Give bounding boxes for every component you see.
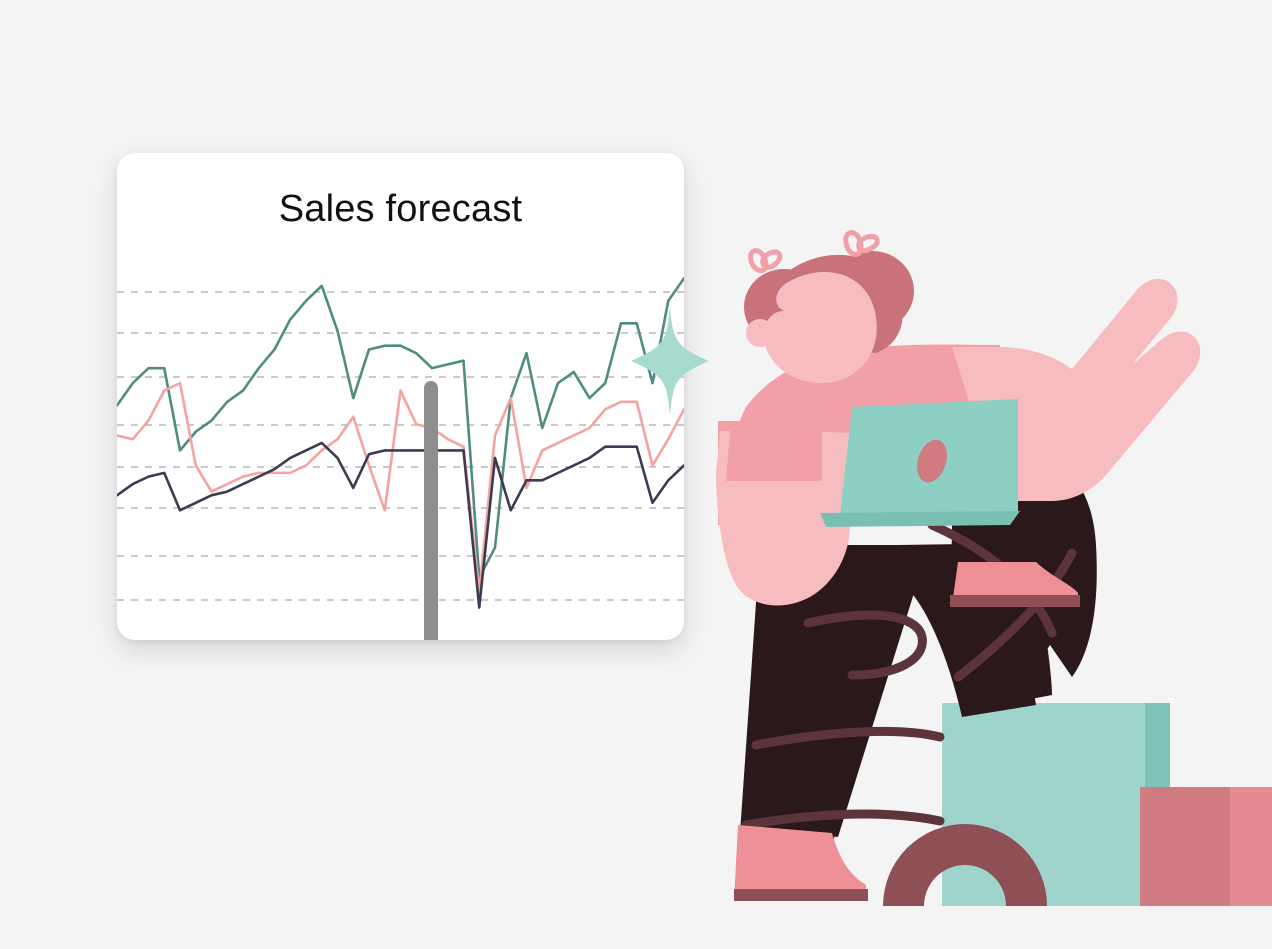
series-forecast-teal <box>117 278 684 577</box>
hair-bow-left <box>751 251 780 271</box>
chart-series <box>117 278 684 607</box>
chart-gridlines <box>117 292 684 600</box>
ear <box>746 319 774 347</box>
block-teal-main <box>942 703 1145 906</box>
shoe-front-sole <box>734 889 868 901</box>
block-pink-front <box>1140 787 1230 906</box>
laptop-base <box>820 511 1020 527</box>
line-chart <box>117 153 684 640</box>
shoe-back-sole <box>950 595 1080 607</box>
face <box>764 272 877 383</box>
sparkle-icon <box>631 306 709 416</box>
person-with-laptop-illustration <box>700 225 1272 949</box>
vertical-scroll-thumb[interactable] <box>424 381 438 640</box>
sales-forecast-card: Sales forecast <box>117 153 684 640</box>
page-root: Sales forecast <box>0 0 1272 949</box>
block-pink-side <box>1228 787 1272 906</box>
shirt-shoulder <box>726 431 822 481</box>
series-actual-salmon <box>117 383 684 592</box>
